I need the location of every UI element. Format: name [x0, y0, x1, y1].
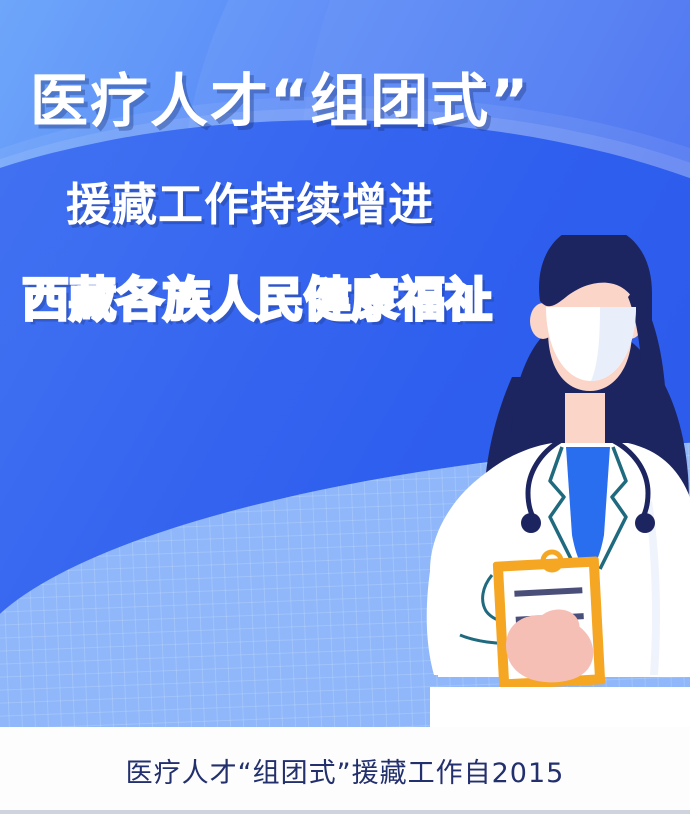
stethoscope-earpiece-right [635, 513, 655, 533]
bottom-rule [0, 810, 690, 814]
headline-line-2: 援藏工作持续增进 [66, 182, 560, 227]
stethoscope-earpiece-left [521, 513, 541, 533]
poster-root: 医疗人才“组团式” 援藏工作持续增进 西藏各族人民健康福祉 [0, 0, 690, 814]
caption-text: 医疗人才“组团式”援藏工作自2015 [126, 751, 565, 790]
doctor-illustration [400, 235, 690, 730]
coat-hem [430, 687, 690, 730]
caption-bar: 医疗人才“组团式”援藏工作自2015 [0, 727, 690, 814]
headline-line-1: 医疗人才“组团式” [30, 72, 560, 130]
